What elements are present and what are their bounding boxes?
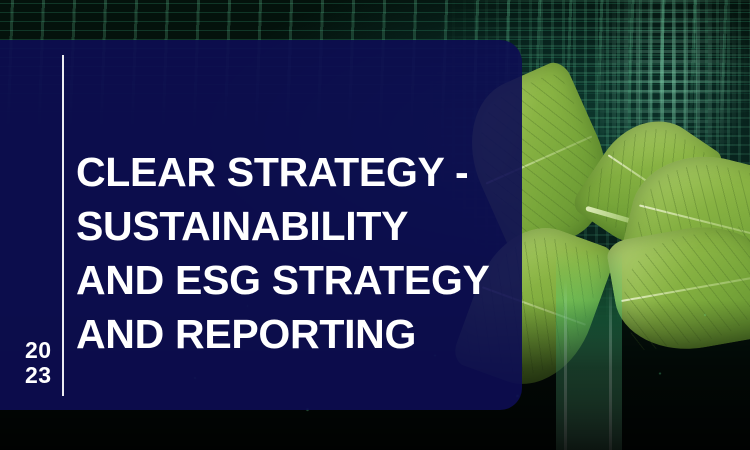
title-line-4: AND REPORTING [76,307,506,361]
year-label: 20 23 [25,338,52,388]
slide-title: CLEAR STRATEGY - SUSTAINABILITY AND ESG … [76,145,506,361]
presentation-slide: 20 23 CLEAR STRATEGY - SUSTAINABILITY AN… [0,0,750,450]
title-line-2: SUSTAINABILITY [76,199,506,253]
year-top-digits: 20 [25,338,52,363]
year-bottom-digits: 23 [25,363,52,388]
vertical-divider [62,55,64,396]
title-line-1: CLEAR STRATEGY - [76,145,506,199]
title-line-3: AND ESG STRATEGY [76,253,506,307]
